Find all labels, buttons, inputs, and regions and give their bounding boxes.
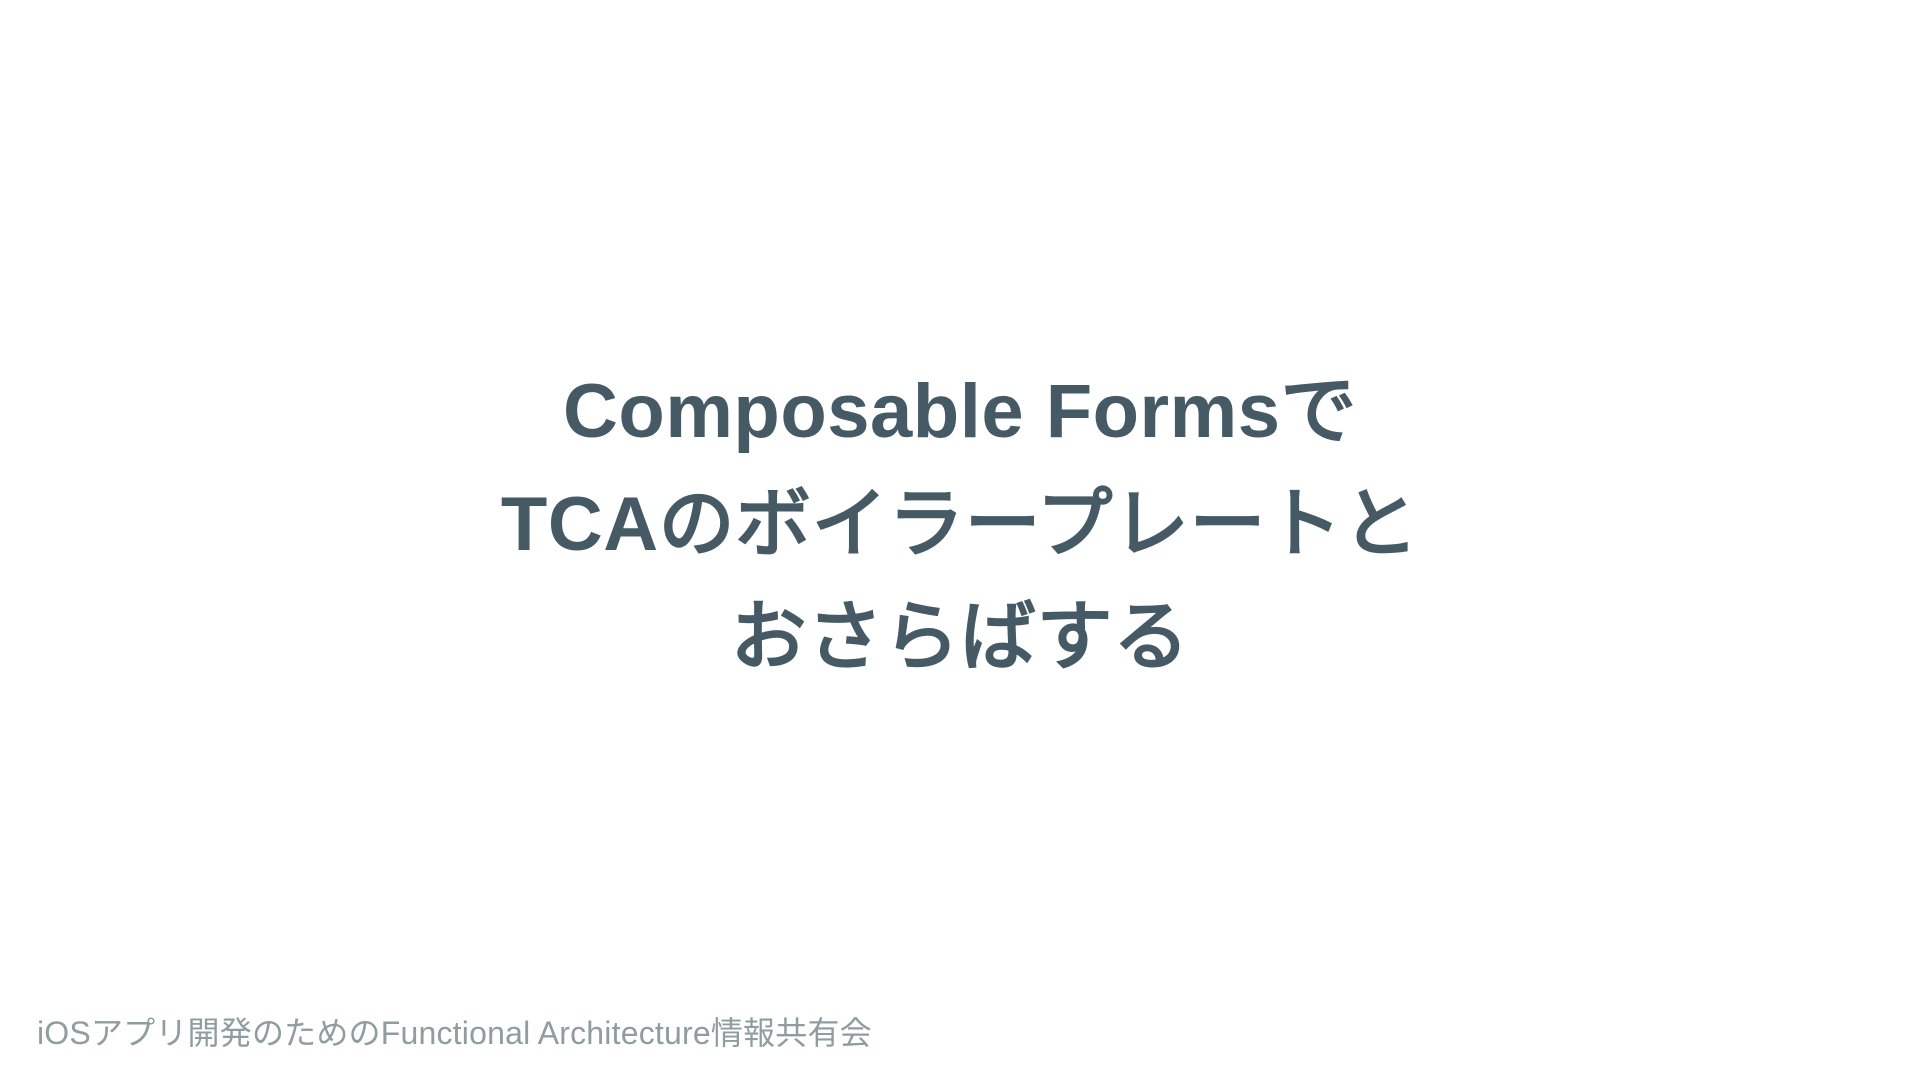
slide-footer: iOSアプリ開発のためのFunctional Architecture情報共有会 <box>37 1013 872 1053</box>
title-line-2: TCAのボイラープレートと <box>501 468 1419 581</box>
slide-title: Composable Formsで TCAのボイラープレートと おさらばする <box>0 355 1920 694</box>
title-slide: Composable Formsで TCAのボイラープレートと おさらばする i… <box>0 0 1920 1080</box>
footer-event-name: iOSアプリ開発のためのFunctional Architecture情報共有会 <box>37 1013 872 1053</box>
title-line-3: おさらばする <box>731 581 1190 694</box>
title-line-1: Composable Formsで <box>563 355 1357 468</box>
